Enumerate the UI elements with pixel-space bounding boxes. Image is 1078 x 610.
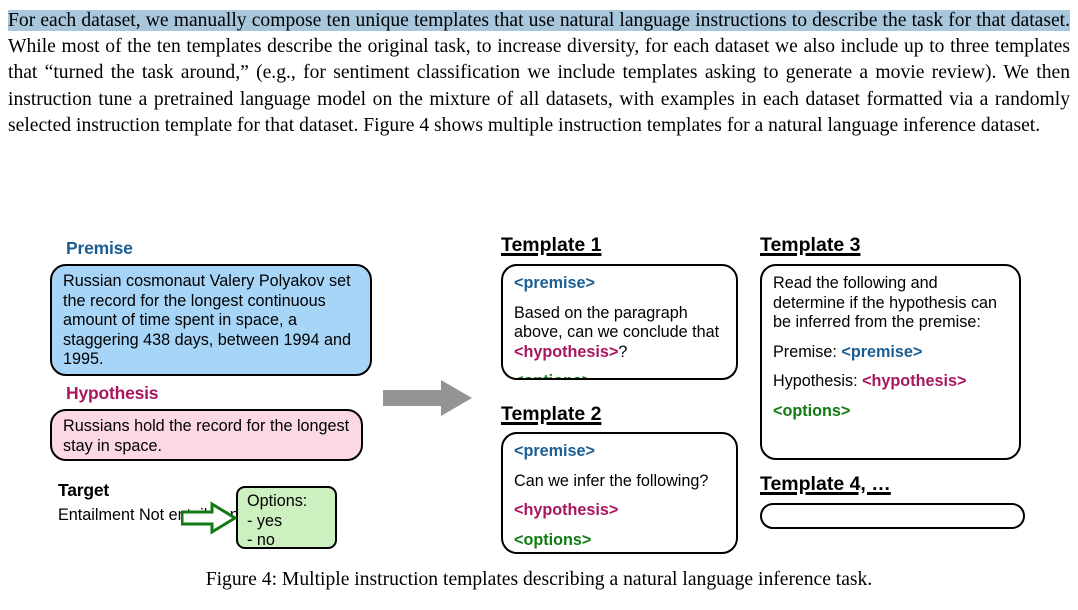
hypothesis-box: Russians hold the record for the longest… [50, 409, 363, 461]
highlighted-sentence: For each dataset, we manually compose te… [8, 10, 1070, 31]
template-line: Can we infer the following? [514, 472, 726, 492]
options-placeholder: <options> [514, 372, 591, 380]
options-item-no: - no [247, 531, 329, 549]
hypothesis-placeholder: <hypothesis> [514, 501, 618, 519]
options-placeholder: <options> [514, 531, 591, 549]
options-heading: Options: [247, 492, 329, 512]
premise-text: Russian cosmonaut Valery Polyakov set th… [63, 272, 351, 368]
premise-placeholder: <premise> [514, 442, 595, 460]
target-label: Target [58, 480, 109, 501]
template-static-text: Hypothesis: [773, 372, 862, 390]
template-3-body: Read the following and determine if the … [762, 266, 1019, 422]
template-static-text: Can we infer the following? [514, 472, 708, 490]
template-line: <premise> [514, 442, 726, 462]
template-4-title: Template 4, … [760, 473, 891, 496]
template-2-title: Template 2 [501, 403, 601, 426]
premise-placeholder: <premise> [841, 343, 922, 361]
template-line: <options> [773, 402, 1009, 422]
paragraph-rest: While most of the ten templates describe… [8, 36, 1070, 136]
options-item-yes: - yes [247, 512, 329, 532]
template-1-box: <premise>Based on the paragraph above, c… [501, 264, 738, 380]
spacer [773, 362, 1009, 372]
hypothesis-placeholder: <hypothesis> [862, 372, 966, 390]
target-value-entailment: Entailment [58, 506, 134, 524]
spacer [773, 333, 1009, 343]
options-box: Options: - yes - no [236, 486, 337, 549]
template-static-text: Based on the paragraph above, can we con… [514, 304, 719, 342]
spacer [514, 521, 726, 531]
template-line: Hypothesis: <hypothesis> [773, 372, 1009, 392]
spacer [773, 392, 1009, 402]
spacer [514, 491, 726, 501]
figure-4: Premise Russian cosmonaut Valery Polyako… [0, 228, 1078, 558]
template-1-body: <premise>Based on the paragraph above, c… [503, 266, 736, 380]
template-line: Premise: <premise> [773, 343, 1009, 363]
template-4-box [760, 503, 1025, 529]
premise-box: Russian cosmonaut Valery Polyakov set th… [50, 264, 372, 376]
template-3-box: Read the following and determine if the … [760, 264, 1021, 460]
template-1-title: Template 1 [501, 234, 601, 257]
premise-placeholder: <premise> [514, 274, 595, 292]
hypothesis-text: Russians hold the record for the longest… [63, 417, 349, 455]
template-line: Read the following and determine if the … [773, 274, 1009, 333]
template-line: <premise> [514, 274, 726, 294]
target-to-options-arrow-icon [181, 501, 237, 535]
hypothesis-placeholder: <hypothesis> [514, 343, 618, 361]
options-placeholder: <options> [773, 402, 850, 420]
template-4-body [762, 505, 1023, 513]
figure-caption: Figure 4: Multiple instruction templates… [0, 568, 1078, 592]
template-static-text: Premise: [773, 343, 841, 361]
template-line: <options> [514, 372, 726, 380]
template-static-text: Read the following and determine if the … [773, 274, 997, 331]
spacer [514, 362, 726, 372]
template-2-box: <premise>Can we infer the following?<hyp… [501, 432, 738, 554]
body-paragraph: For each dataset, we manually compose te… [8, 8, 1070, 139]
premise-label: Premise [66, 238, 133, 259]
template-static-text: ? [618, 343, 627, 361]
template-2-body: <premise>Can we infer the following?<hyp… [503, 434, 736, 550]
template-line: Based on the paragraph above, can we con… [514, 304, 726, 363]
spacer [514, 294, 726, 304]
template-3-title: Template 3 [760, 234, 860, 257]
template-line: <hypothesis> [514, 501, 726, 521]
input-to-templates-arrow-icon [383, 378, 473, 418]
hypothesis-label: Hypothesis [66, 383, 158, 404]
spacer [514, 462, 726, 472]
template-line: <options> [514, 531, 726, 551]
